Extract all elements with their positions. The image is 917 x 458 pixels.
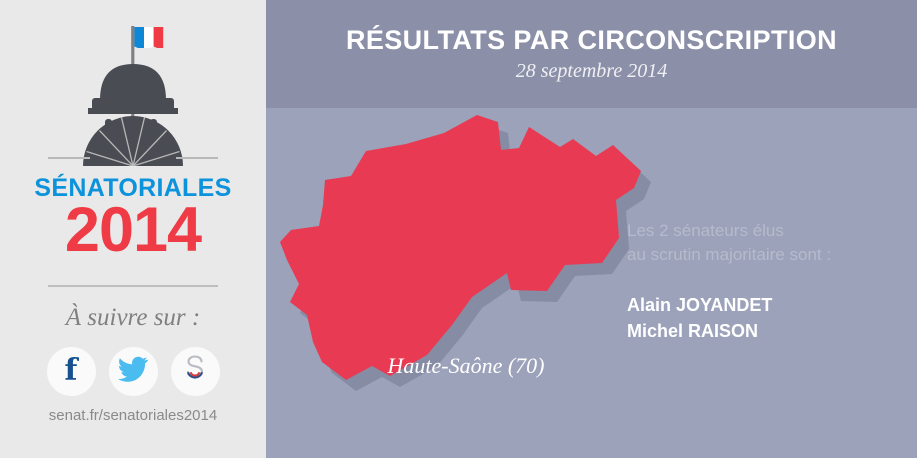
senator-name: Alain JOYANDET: [627, 293, 907, 319]
sidebar: SÉNATORIALES 2014 À suivre sur : f: [0, 0, 266, 458]
twitter-link[interactable]: [109, 347, 158, 396]
twitter-bird-icon: [118, 356, 148, 387]
senat-link[interactable]: [171, 347, 220, 396]
sidebar-divider: [48, 285, 218, 287]
senat-s-logo-icon: [179, 353, 211, 390]
results-intro-line2: au scrutin majoritaire sont :: [627, 243, 907, 267]
facebook-link[interactable]: f: [47, 347, 96, 396]
page-title: RÉSULTATS PAR CIRCONSCRIPTION: [266, 27, 917, 54]
emblem-divider-left: [48, 157, 90, 159]
results-intro: Les 2 sénateurs élus au scrutin majorita…: [627, 219, 907, 267]
facebook-icon: f: [65, 356, 78, 386]
senate-dome-hemicycle-icon: [0, 16, 266, 166]
site-url[interactable]: senat.fr/senatoriales2014: [0, 407, 266, 424]
senatoriales-results-infographic: SÉNATORIALES 2014 À suivre sur : f: [0, 0, 917, 458]
social-links: f: [0, 347, 266, 396]
map-department-shape: [280, 115, 641, 380]
page-subtitle: 28 septembre 2014: [266, 61, 917, 81]
follow-us-label: À suivre sur :: [0, 303, 266, 333]
emblem-divider-right: [176, 157, 218, 159]
elected-senators-list: Alain JOYANDET Michel RAISON: [627, 293, 907, 344]
senator-name: Michel RAISON: [627, 319, 907, 345]
french-flag-icon: [134, 27, 163, 51]
brand-year: 2014: [0, 199, 266, 262]
results-intro-line1: Les 2 sénateurs élus: [627, 219, 907, 243]
header-band: RÉSULTATS PAR CIRCONSCRIPTION 28 septemb…: [266, 0, 917, 108]
results-panel: Les 2 sénateurs élus au scrutin majorita…: [627, 219, 907, 344]
